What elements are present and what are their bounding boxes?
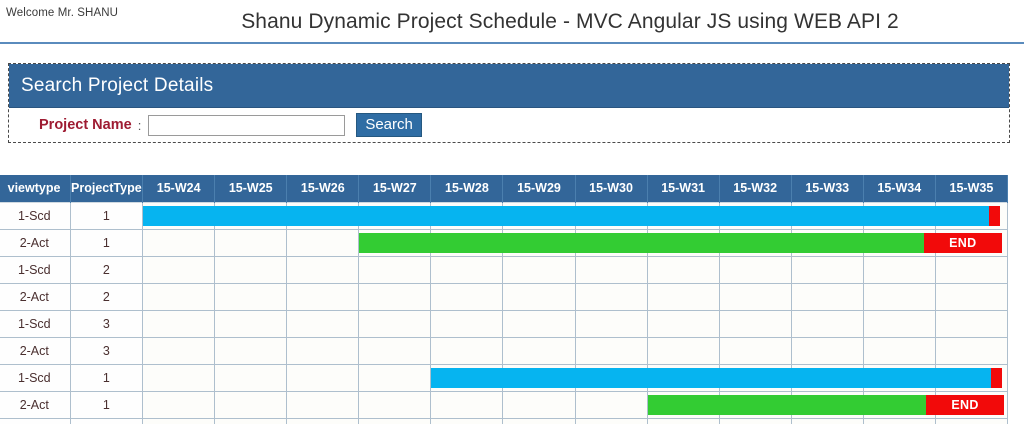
cell-week-15-W28 xyxy=(431,283,503,310)
cell-viewtype: 2-Act xyxy=(0,283,70,310)
cell-week-15-W24 xyxy=(143,310,215,337)
cell-viewtype: 1-Scd xyxy=(0,256,70,283)
cell-week-15-W25 xyxy=(215,256,287,283)
page-root: Welcome Mr. SHANU Shanu Dynamic Project … xyxy=(0,0,1024,424)
cell-week-15-W34 xyxy=(863,337,935,364)
cell-week-15-W33 xyxy=(791,337,863,364)
column-header-week-15-W34[interactable]: 15-W34 xyxy=(863,175,935,202)
table-row[interactable]: 1-Scd3 xyxy=(0,310,1008,337)
cell-projecttype: 1 xyxy=(70,364,143,391)
cell-week-15-W26 xyxy=(287,418,359,424)
table-row[interactable]: 2-Act1END xyxy=(0,229,1008,256)
cell-week-15-W27 xyxy=(359,364,431,391)
column-header-week-15-W28[interactable]: 15-W28 xyxy=(431,175,503,202)
table-row[interactable]: 1-Scd2 xyxy=(0,256,1008,283)
cell-week-15-W30 xyxy=(575,283,647,310)
search-panel-body: Project Name : Search xyxy=(9,108,1009,142)
cell-week-15-W31 xyxy=(647,337,719,364)
cell-week-15-W29 xyxy=(503,283,575,310)
cell-week-15-W25 xyxy=(215,310,287,337)
page-title-text: Shanu Dynamic Project Schedule - MVC Ang… xyxy=(241,10,899,33)
cell-week-15-W31 xyxy=(647,418,719,424)
cell-week-15-W34 xyxy=(863,283,935,310)
cell-week-15-W29 xyxy=(503,310,575,337)
column-header-week-15-W29[interactable]: 15-W29 xyxy=(503,175,575,202)
cell-week-15-W30 xyxy=(575,391,647,418)
cell-week-15-W24 xyxy=(143,283,215,310)
schedule-bar[interactable] xyxy=(143,206,989,226)
cell-viewtype: 2-Act xyxy=(0,337,70,364)
cell-week-15-W32 xyxy=(719,283,791,310)
cell-week-15-W27: END xyxy=(359,229,431,256)
cell-week-15-W26 xyxy=(287,337,359,364)
cell-week-15-W32 xyxy=(719,418,791,424)
column-header-week-15-W30[interactable]: 15-W30 xyxy=(575,175,647,202)
cell-week-15-W28 xyxy=(431,391,503,418)
cell-week-15-W33 xyxy=(791,418,863,424)
actual-bar[interactable] xyxy=(648,395,927,415)
cell-week-15-W26 xyxy=(287,391,359,418)
search-project-panel: Search Project Details Project Name : Se… xyxy=(8,63,1010,143)
cell-week-15-W35 xyxy=(935,283,1007,310)
cell-week-15-W27 xyxy=(359,337,431,364)
cell-week-15-W32 xyxy=(719,337,791,364)
cell-week-15-W26 xyxy=(287,229,359,256)
cell-viewtype: 1-Scd xyxy=(0,202,70,229)
column-header-week-15-W33[interactable]: 15-W33 xyxy=(791,175,863,202)
cell-week-15-W33 xyxy=(791,256,863,283)
cell-projecttype xyxy=(70,418,143,424)
cell-week-15-W30 xyxy=(575,337,647,364)
cell-week-15-W34 xyxy=(863,310,935,337)
page-title: Shanu Dynamic Project Schedule - MVC Ang… xyxy=(0,10,1024,34)
cell-week-15-W31 xyxy=(647,256,719,283)
cell-week-15-W27 xyxy=(359,283,431,310)
table-header-row: viewtypeProjectType15-W2415-W2515-W2615-… xyxy=(0,175,1008,202)
cell-week-15-W35 xyxy=(935,256,1007,283)
cell-week-15-W31 xyxy=(647,283,719,310)
cell-week-15-W34 xyxy=(863,418,935,424)
table-row[interactable]: 2-Act3 xyxy=(0,337,1008,364)
search-panel-title: Search Project Details xyxy=(21,75,213,97)
cell-week-15-W28 xyxy=(431,310,503,337)
label-colon: : xyxy=(138,118,142,133)
column-header-week-15-W26[interactable]: 15-W26 xyxy=(287,175,359,202)
cell-week-15-W32 xyxy=(719,256,791,283)
column-header-week-15-W27[interactable]: 15-W27 xyxy=(359,175,431,202)
cell-week-15-W24 xyxy=(143,364,215,391)
cell-viewtype xyxy=(0,418,70,424)
cell-viewtype: 1-Scd xyxy=(0,310,70,337)
cell-week-15-W28 xyxy=(431,337,503,364)
table-row[interactable]: 2-Act2 xyxy=(0,283,1008,310)
cell-week-15-W28 xyxy=(431,418,503,424)
table-body: 1-Scd12-Act1END1-Scd22-Act21-Scd32-Act31… xyxy=(0,202,1008,424)
end-marker[interactable]: END xyxy=(924,233,1002,253)
cell-projecttype: 1 xyxy=(70,391,143,418)
cell-week-15-W30 xyxy=(575,310,647,337)
end-marker[interactable] xyxy=(989,206,1000,226)
column-header-week-15-W32[interactable]: 15-W32 xyxy=(719,175,791,202)
table-head: viewtypeProjectType15-W2415-W2515-W2615-… xyxy=(0,175,1008,202)
table-row[interactable] xyxy=(0,418,1008,424)
cell-week-15-W25 xyxy=(215,337,287,364)
cell-week-15-W30 xyxy=(575,418,647,424)
cell-week-15-W27 xyxy=(359,418,431,424)
cell-week-15-W27 xyxy=(359,310,431,337)
cell-week-15-W26 xyxy=(287,364,359,391)
cell-projecttype: 3 xyxy=(70,310,143,337)
cell-viewtype: 2-Act xyxy=(0,391,70,418)
cell-week-15-W31 xyxy=(647,310,719,337)
cell-week-15-W25 xyxy=(215,364,287,391)
search-button[interactable]: Search xyxy=(356,113,422,137)
cell-week-15-W26 xyxy=(287,310,359,337)
cell-projecttype: 2 xyxy=(70,283,143,310)
cell-week-15-W24 xyxy=(143,256,215,283)
cell-week-15-W29 xyxy=(503,418,575,424)
column-header-week-15-W31[interactable]: 15-W31 xyxy=(647,175,719,202)
cell-week-15-W24 xyxy=(143,202,215,229)
actual-bar[interactable] xyxy=(359,233,924,253)
cell-week-15-W24 xyxy=(143,337,215,364)
cell-projecttype: 3 xyxy=(70,337,143,364)
table-row[interactable]: 1-Scd1 xyxy=(0,364,1008,391)
cell-week-15-W24 xyxy=(143,418,215,424)
column-header-week-15-W25[interactable]: 15-W25 xyxy=(215,175,287,202)
cell-week-15-W27 xyxy=(359,391,431,418)
cell-week-15-W25 xyxy=(215,391,287,418)
schedule-table: viewtypeProjectType15-W2415-W2515-W2615-… xyxy=(0,175,1008,424)
cell-week-15-W27 xyxy=(359,256,431,283)
cell-week-15-W25 xyxy=(215,283,287,310)
cell-week-15-W25 xyxy=(215,418,287,424)
cell-week-15-W35 xyxy=(935,337,1007,364)
cell-projecttype: 1 xyxy=(70,202,143,229)
cell-week-15-W26 xyxy=(287,256,359,283)
search-panel-header: Search Project Details xyxy=(9,64,1009,108)
column-header-projecttype[interactable]: ProjectType xyxy=(70,175,143,202)
cell-week-15-W33 xyxy=(791,283,863,310)
cell-week-15-W29 xyxy=(503,337,575,364)
cell-viewtype: 1-Scd xyxy=(0,364,70,391)
table-row[interactable]: 1-Scd1 xyxy=(0,202,1008,229)
cell-week-15-W25 xyxy=(215,229,287,256)
cell-week-15-W32 xyxy=(719,310,791,337)
cell-week-15-W30 xyxy=(575,256,647,283)
column-header-week-15-W24[interactable]: 15-W24 xyxy=(143,175,215,202)
cell-week-15-W28 xyxy=(431,364,503,391)
cell-week-15-W35 xyxy=(935,418,1007,424)
cell-viewtype: 2-Act xyxy=(0,229,70,256)
app-header: Welcome Mr. SHANU Shanu Dynamic Project … xyxy=(0,0,1024,44)
cell-week-15-W24 xyxy=(143,391,215,418)
end-marker[interactable] xyxy=(991,368,1002,388)
cell-week-15-W24 xyxy=(143,229,215,256)
cell-projecttype: 1 xyxy=(70,229,143,256)
table-row[interactable]: 2-Act1END xyxy=(0,391,1008,418)
project-name-input[interactable] xyxy=(148,115,345,136)
cell-week-15-W31: END xyxy=(647,391,719,418)
cell-week-15-W33 xyxy=(791,310,863,337)
cell-projecttype: 2 xyxy=(70,256,143,283)
column-header-week-15-W35[interactable]: 15-W35 xyxy=(935,175,1007,202)
schedule-bar[interactable] xyxy=(431,368,991,388)
cell-week-15-W34 xyxy=(863,256,935,283)
end-marker[interactable]: END xyxy=(926,395,1004,415)
cell-week-15-W28 xyxy=(431,256,503,283)
schedule-grid-container[interactable]: viewtypeProjectType15-W2415-W2515-W2615-… xyxy=(0,175,1024,424)
cell-week-15-W29 xyxy=(503,256,575,283)
cell-week-15-W26 xyxy=(287,283,359,310)
cell-week-15-W29 xyxy=(503,391,575,418)
cell-week-15-W35 xyxy=(935,310,1007,337)
project-name-label: Project Name xyxy=(39,117,132,133)
column-header-viewtype[interactable]: viewtype xyxy=(0,175,70,202)
